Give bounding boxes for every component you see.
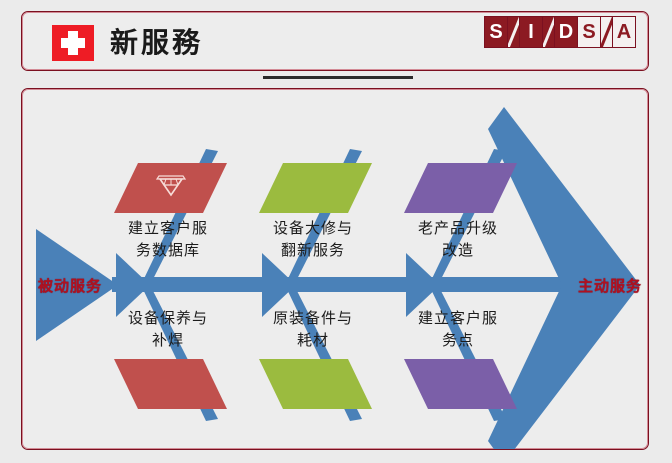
logo-slash-3 bbox=[601, 17, 613, 47]
branch-label-top-3: 老产品升级 改造 bbox=[398, 217, 518, 261]
card-top-3[interactable] bbox=[404, 163, 517, 213]
branch-label-bottom-1: 设备保养与 补焊 bbox=[108, 307, 228, 351]
page-title: 新服務 bbox=[110, 22, 203, 64]
slide-canvas: 新服務 S I D S A bbox=[0, 0, 672, 463]
logo-letter-a: A bbox=[613, 17, 635, 47]
slide-header: 新服務 S I D S A bbox=[21, 11, 649, 71]
diagram-panel: 建立客户服 务数据库 设备大修与 翻新服务 老产品升级 改造 设备保养与 补焊 … bbox=[21, 88, 649, 450]
logo-letter-i: I bbox=[520, 17, 543, 47]
card-top-1[interactable] bbox=[114, 163, 227, 213]
card-bottom-1[interactable] bbox=[114, 359, 227, 409]
card-bottom-2[interactable] bbox=[259, 359, 372, 409]
title-underline-rule bbox=[263, 76, 413, 79]
logo-slash-2 bbox=[543, 17, 555, 47]
fish-spine bbox=[112, 277, 564, 292]
branch-label-top-2: 设备大修与 翻新服务 bbox=[253, 217, 373, 261]
branch-label-top-1: 建立客户服 务数据库 bbox=[108, 217, 228, 261]
card-top-2[interactable] bbox=[259, 163, 372, 213]
logo-letter-s2: S bbox=[578, 17, 601, 47]
logo-slash-1 bbox=[508, 17, 520, 47]
card-bottom-3[interactable] bbox=[404, 359, 517, 409]
logo-letter-s1: S bbox=[485, 17, 508, 47]
right-end-label: 主动服务 bbox=[578, 275, 642, 296]
fishbone-diagram bbox=[22, 89, 649, 450]
branch-label-bottom-3: 建立客户服 务点 bbox=[398, 307, 518, 351]
branch-label-bottom-2: 原装备件与 耗材 bbox=[253, 307, 373, 351]
logo-letter-d: D bbox=[555, 17, 578, 47]
left-end-label: 被动服务 bbox=[38, 275, 102, 296]
swiss-cross-icon bbox=[52, 25, 94, 61]
sidsa-logo: S I D S A bbox=[484, 16, 636, 48]
